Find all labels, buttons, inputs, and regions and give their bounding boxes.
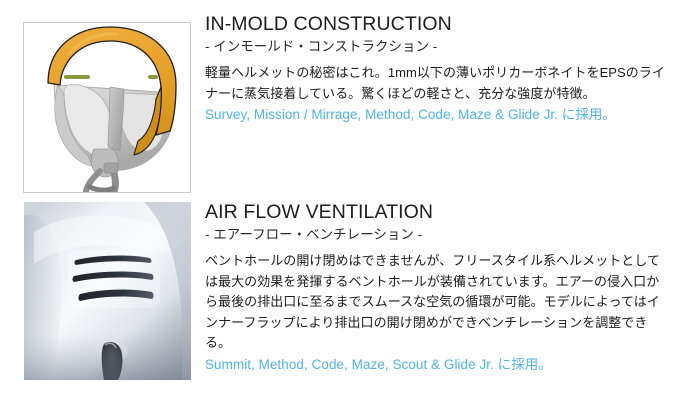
helmet-vent-photo xyxy=(24,202,191,380)
air-flow-ventilation-media xyxy=(24,202,191,380)
section-paragraph: 軽量ヘルメットの秘密はこれ。1mm以下の薄いポリカーボネイトをEPSのライナーに… xyxy=(205,63,665,104)
helmet-cutaway-illustration xyxy=(23,22,191,193)
section-paragraph: ベントホールの開け閉めはできませんが、フリースタイル系ヘルメットとしては最大の効… xyxy=(205,251,665,354)
section-subheading: - エアーフロー・ベンチレーション - xyxy=(205,225,665,245)
section-models-line: Survey, Mission / Mirrage, Method, Code,… xyxy=(205,104,665,125)
section-heading: AIR FLOW VENTILATION xyxy=(205,200,665,224)
section-subheading: - インモールド・コンストラクション - xyxy=(205,37,665,57)
shell-vent-slot-right xyxy=(148,75,158,79)
in-mold-construction-media xyxy=(23,22,191,193)
section-heading: IN-MOLD CONSTRUCTION xyxy=(205,12,665,36)
section-models-line: Summit, Method, Code, Maze, Scout & Glid… xyxy=(205,354,665,375)
in-mold-construction-text: IN-MOLD CONSTRUCTION - インモールド・コンストラクション … xyxy=(205,12,665,125)
air-flow-ventilation-text: AIR FLOW VENTILATION - エアーフロー・ベンチレーション -… xyxy=(205,200,665,375)
product-feature-page: IN-MOLD CONSTRUCTION - インモールド・コンストラクション … xyxy=(0,0,680,400)
shell-vent-slot-left xyxy=(64,75,90,79)
